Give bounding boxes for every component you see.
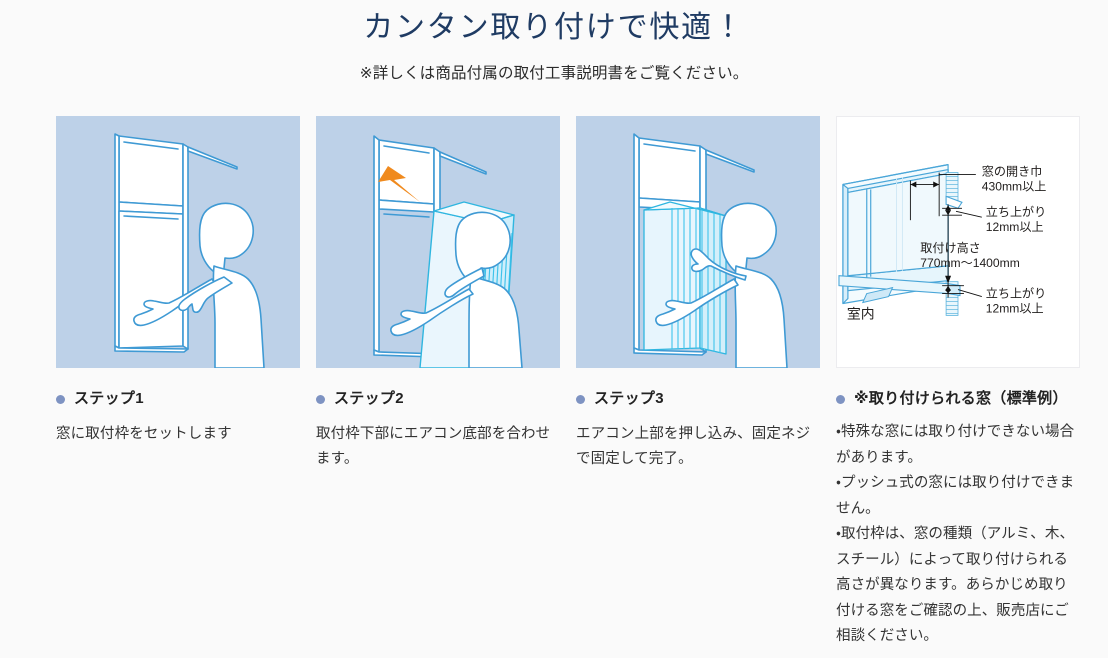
label-window-width-line2: 430mm以上 [982, 179, 1047, 193]
step-2-illustration-panel [316, 116, 560, 368]
label-install-height-line2: 770mm〜1400mm [920, 256, 1019, 270]
bullet-icon [836, 395, 845, 404]
label-indoor: 室内 [847, 305, 875, 321]
window-dimension-diagram-panel: 窓の開き巾 430mm以上 立ち上がり 12mm以上 取付け高さ 770mm〜1… [836, 116, 1080, 368]
label-riser-top-line1: 立ち上がり [986, 204, 1046, 219]
step-1-description: 窓に取付枠をセットします [56, 422, 300, 447]
bullet-icon [316, 395, 325, 404]
label-install-height-line1: 取付け高さ [920, 241, 980, 255]
person-setting-mounting-frame-in-window-icon [56, 116, 300, 368]
label-riser-bottom-line1: 立ち上がり [986, 286, 1046, 301]
step-column-3: ステップ3 エアコン上部を押し込み、固定ネジで固定して完了。 [576, 116, 820, 650]
bullet-icon [56, 395, 65, 404]
step-column-2: ステップ2 取付枠下部にエアコン底部を合わせます。 [316, 116, 560, 650]
person-pushing-air-conditioner-top-and-fixing-screw-icon [576, 116, 820, 368]
window-notes-list: ・特殊な窓には取り付けできない場合があります。 ・プッシュ式の窓には取り付けでき… [836, 420, 1080, 650]
step-1-label: ステップ1 [74, 390, 144, 408]
step-column-4: 窓の開き巾 430mm以上 立ち上がり 12mm以上 取付け高さ 770mm〜1… [836, 116, 1080, 650]
step-1-heading: ステップ1 [56, 390, 300, 408]
step-2-label: ステップ2 [334, 390, 404, 408]
step-2-heading: ステップ2 [316, 390, 560, 408]
step-3-label: ステップ3 [594, 390, 664, 408]
person-lifting-air-conditioner-to-frame-icon [316, 116, 560, 368]
label-riser-bottom-line2: 12mm以上 [986, 301, 1044, 315]
window-dimension-diagram-icon: 窓の開き巾 430mm以上 立ち上がり 12mm以上 取付け高さ 770mm〜1… [837, 117, 1079, 367]
window-note-2: ・プッシュ式の窓には取り付けできません。 [836, 471, 1080, 522]
step-2-description: 取付枠下部にエアコン底部を合わせます。 [316, 422, 560, 472]
window-note-3: ・取付枠は、窓の種類（アルミ、木、スチール）によって取り付けられる高さが異なりま… [836, 522, 1080, 650]
page-title: カンタン取り付けで快適！ [0, 8, 1108, 49]
page-subtitle: ※詳しくは商品付属の取付工事説明書をご覧ください。 [0, 62, 1108, 85]
window-note-1: ・特殊な窓には取り付けできない場合があります。 [836, 420, 1080, 471]
window-notes-label: ※取り付けられる窓（標準例） [854, 390, 1068, 408]
label-riser-top-line2: 12mm以上 [986, 220, 1044, 234]
step-3-illustration-panel [576, 116, 820, 368]
step-1-illustration-panel [56, 116, 300, 368]
step-3-description: エアコン上部を押し込み、固定ネジで固定して完了。 [576, 422, 820, 472]
step-3-heading: ステップ3 [576, 390, 820, 408]
page-header: カンタン取り付けで快適！ ※詳しくは商品付属の取付工事説明書をご覧ください。 [0, 0, 1108, 85]
window-notes-heading: ※取り付けられる窓（標準例） [836, 390, 1080, 408]
step-column-1: ステップ1 窓に取付枠をセットします [56, 116, 300, 650]
bullet-icon [576, 395, 585, 404]
label-window-width-line1: 窓の開き巾 [982, 165, 1042, 179]
steps-container: ステップ1 窓に取付枠をセットします [56, 116, 1080, 650]
